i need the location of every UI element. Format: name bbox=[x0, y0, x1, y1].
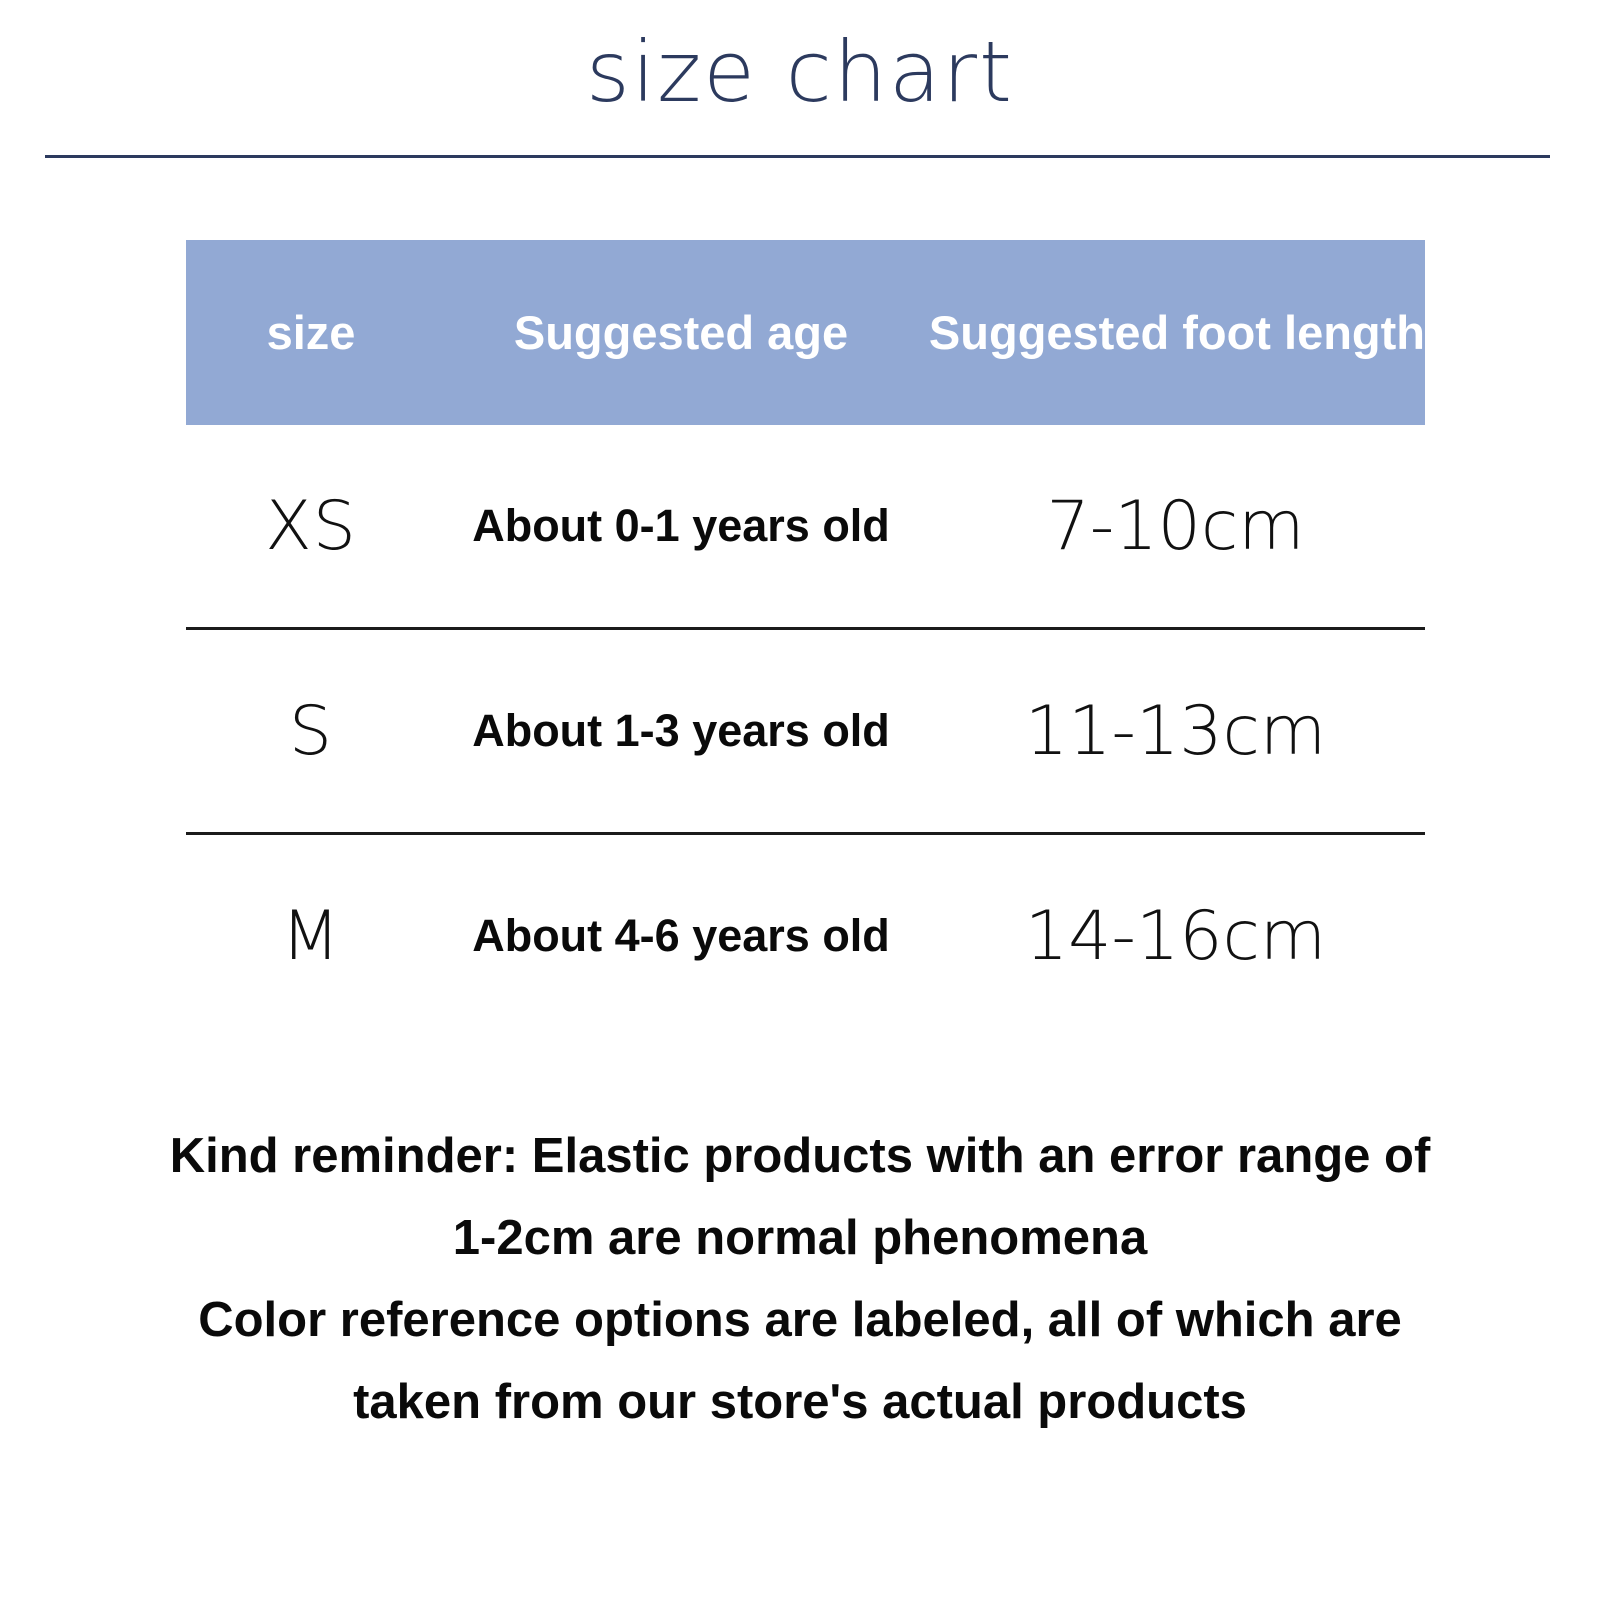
table-row: S About 1-3 years old 11-13cm bbox=[186, 627, 1425, 832]
footer-note: Kind reminder: Elastic products with an … bbox=[0, 1115, 1600, 1443]
note-line-1: Kind reminder: Elastic products with an … bbox=[0, 1115, 1600, 1197]
column-header-size: size bbox=[186, 307, 436, 359]
cell-suggested-age: About 0-1 years old bbox=[436, 500, 926, 552]
cell-suggested-foot-length: 14-16cm bbox=[926, 897, 1425, 976]
table-header-row: size Suggested age Suggested foot length bbox=[186, 240, 1425, 425]
cell-suggested-foot-length: 11-13cm bbox=[926, 692, 1425, 771]
cell-size: S bbox=[186, 692, 436, 771]
cell-size: M bbox=[186, 897, 436, 976]
column-header-suggested-foot-length: Suggested foot length bbox=[926, 307, 1425, 359]
note-line-4: taken from our store's actual products bbox=[0, 1361, 1600, 1443]
size-chart-table: size Suggested age Suggested foot length… bbox=[186, 240, 1425, 1037]
size-chart-page: size chart size Suggested age Suggested … bbox=[0, 0, 1600, 1600]
note-line-2: 1-2cm are normal phenomena bbox=[0, 1197, 1600, 1279]
table-row: XS About 0-1 years old 7-10cm bbox=[186, 425, 1425, 627]
cell-suggested-age: About 1-3 years old bbox=[436, 705, 926, 757]
column-header-suggested-age: Suggested age bbox=[436, 307, 926, 359]
title-divider bbox=[45, 155, 1550, 158]
cell-suggested-age: About 4-6 years old bbox=[436, 910, 926, 962]
note-line-3: Color reference options are labeled, all… bbox=[0, 1279, 1600, 1361]
page-title-container: size chart bbox=[0, 28, 1600, 116]
cell-size: XS bbox=[186, 487, 436, 566]
page-title: size chart bbox=[586, 28, 1014, 116]
table-body: XS About 0-1 years old 7-10cm S About 1-… bbox=[186, 425, 1425, 1037]
table-row: M About 4-6 years old 14-16cm bbox=[186, 832, 1425, 1037]
cell-suggested-foot-length: 7-10cm bbox=[926, 487, 1425, 566]
